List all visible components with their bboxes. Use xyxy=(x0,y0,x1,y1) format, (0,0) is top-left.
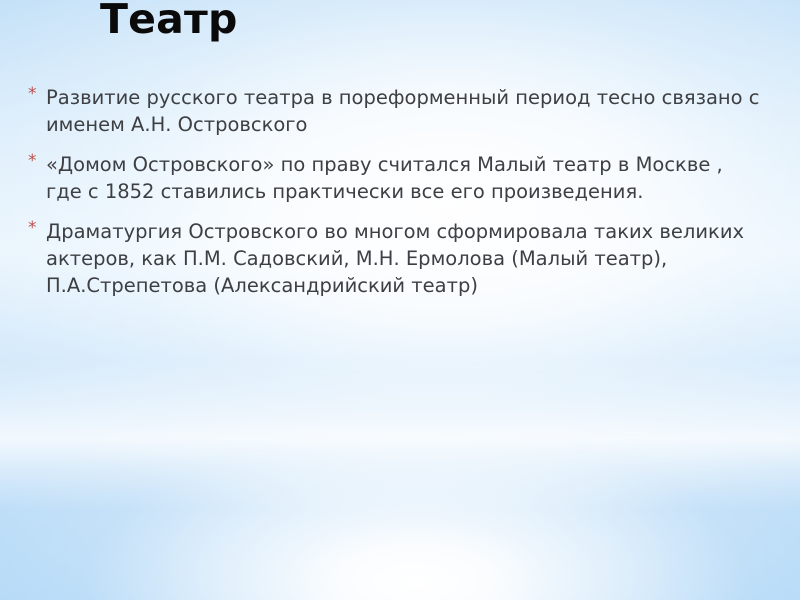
presentation-slide: Театр * Развитие русского театра в пореф… xyxy=(0,0,800,600)
list-item: * «Домом Островского» по праву считался … xyxy=(28,151,762,205)
bullet-list: * Развитие русского театра в пореформенн… xyxy=(28,84,762,299)
list-item: * Развитие русского театра в пореформенн… xyxy=(28,84,762,138)
asterisk-bullet-icon: * xyxy=(28,148,37,175)
asterisk-bullet-icon: * xyxy=(28,215,37,242)
list-item-text: Развитие русского театра в пореформенный… xyxy=(46,84,762,138)
list-item: * Драматургия Островского во многом сфор… xyxy=(28,218,762,299)
asterisk-bullet-icon: * xyxy=(28,81,37,108)
page-title: Театр xyxy=(100,0,238,45)
list-item-text: Драматургия Островского во многом сформи… xyxy=(46,218,762,299)
list-item-text: «Домом Островского» по праву считался Ма… xyxy=(46,151,762,205)
